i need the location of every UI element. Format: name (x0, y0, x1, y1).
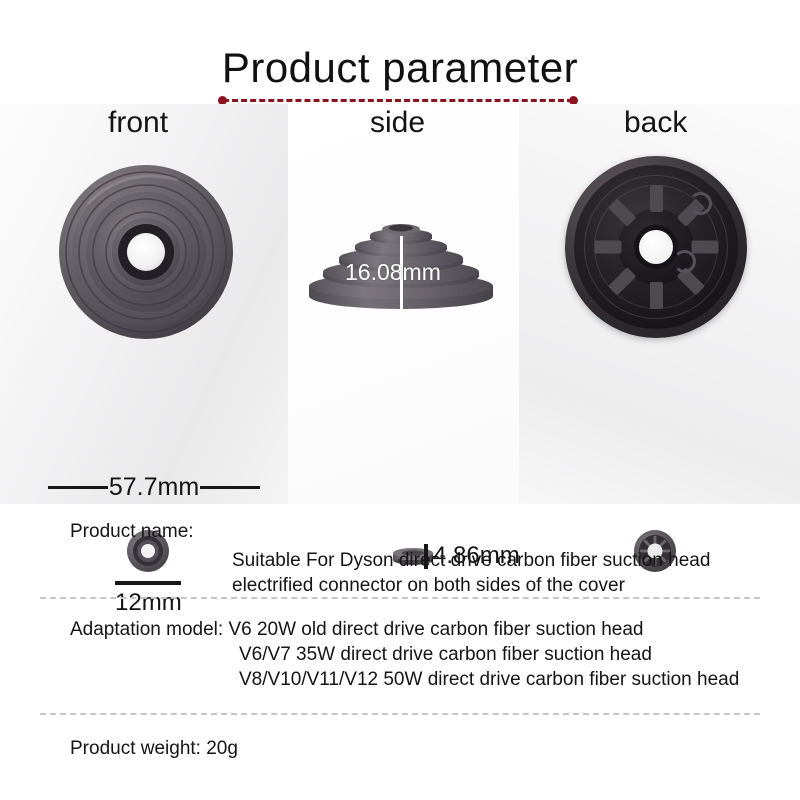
page-title: Product parameter (0, 44, 800, 92)
adaptation-model-line-3: V8/V10/V11/V12 50W direct drive carbon f… (239, 669, 739, 691)
back-product-image (565, 156, 747, 338)
back-spoke (650, 185, 663, 212)
back-center-hole (639, 230, 673, 264)
outer-diameter-dimension: 57.7mm (48, 474, 260, 500)
adaptation-model-line-2: V6/V7 35W direct drive carbon fiber suct… (239, 644, 652, 666)
back-spoke (691, 241, 718, 254)
height-value: 16.08mm (345, 259, 441, 286)
adaptation-model-label: Adaptation model: V6 20W old direct driv… (70, 619, 644, 641)
product-name-label: Product name: (70, 521, 194, 543)
spec-separator-2 (40, 713, 760, 715)
spec-separator-1 (40, 597, 760, 599)
front-product-image (58, 164, 234, 340)
product-name-line-2: electrified connector on both sides of t… (232, 575, 625, 597)
dimension-line-right (200, 486, 260, 489)
specifications-block: Product name: Suitable For Dyson direct … (0, 506, 800, 800)
back-connector-clip-center (673, 250, 696, 273)
side-view-label: side (370, 106, 425, 140)
product-weight-label: Product weight: 20g (70, 738, 238, 760)
divider-dashed-line (223, 99, 573, 102)
front-product-svg (58, 164, 234, 340)
back-connector-clip-top (689, 192, 712, 215)
product-parameter-infographic: Product parameter front side back (0, 0, 800, 800)
dimension-line-left (48, 486, 108, 489)
back-spoke (650, 282, 663, 309)
outer-diameter-value: 57.7mm (108, 473, 200, 502)
front-view-label: front (108, 106, 168, 140)
back-view-label: back (624, 106, 687, 140)
product-views: front side back (0, 104, 800, 504)
back-spoke (594, 241, 621, 254)
product-name-line-1: Suitable For Dyson direct drive carbon f… (232, 550, 710, 572)
